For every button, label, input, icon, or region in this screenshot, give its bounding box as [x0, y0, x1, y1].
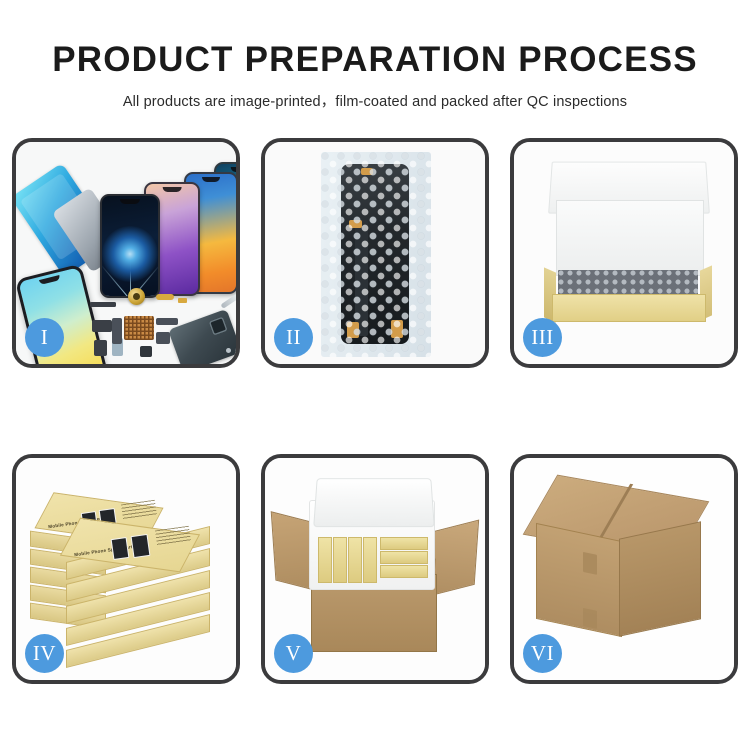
inner-box-6: [380, 551, 428, 564]
step-badge-2: II: [274, 318, 313, 357]
flex-cable-icon: [112, 318, 122, 344]
process-step-panel-1[interactable]: I: [12, 138, 240, 368]
part-bar: [90, 302, 116, 307]
bubble-texture: [321, 152, 431, 357]
inner-box-5: [380, 537, 428, 550]
copper-mesh-icon: [124, 316, 154, 340]
process-step-panel-6[interactable]: VI: [510, 454, 738, 684]
tape-patch-lower: [583, 608, 597, 629]
process-step-panel-2[interactable]: II: [261, 138, 489, 368]
process-step-panel-3[interactable]: III: [510, 138, 738, 368]
box-art-screen-4: [131, 534, 151, 558]
page-subtitle: All products are image-printed，film-coat…: [0, 90, 750, 111]
spare-parts-cluster: [90, 288, 236, 364]
white-foam-sheet: [556, 200, 704, 276]
inner-box-2: [333, 537, 347, 583]
bubble-wrap-bag: [321, 152, 431, 357]
stacked-boxes-group: Mobile Phone Spare Parts Mobile Phone Sp…: [26, 482, 234, 662]
box-front-wall: [552, 294, 706, 322]
process-step-panel-5[interactable]: V: [261, 454, 489, 684]
back-housing-icon: [168, 309, 236, 364]
carton-left-face: [536, 523, 622, 637]
step-badge-3: III: [523, 318, 562, 357]
front-phone-icon: [100, 194, 160, 298]
step-badge-6: VI: [523, 634, 562, 673]
step-badge-4: IV: [25, 634, 64, 673]
foam-lid: [313, 478, 435, 527]
speaker-coil-icon: [128, 288, 145, 305]
gold-contact-2-icon: [178, 298, 187, 303]
header: PRODUCT PREPARATION PROCESS All products…: [0, 0, 750, 111]
process-steps-grid: I II: [12, 138, 738, 684]
box-art-screen-3: [111, 537, 130, 560]
step-badge-1: I: [25, 318, 64, 357]
screw-icon: [226, 348, 231, 353]
part-module: [94, 340, 107, 356]
part-camera: [140, 346, 152, 357]
inner-box-4: [363, 537, 377, 583]
process-step-panel-4[interactable]: Mobile Phone Spare Parts Mobile Phone Sp…: [12, 454, 240, 684]
tape-patch-upper: [583, 552, 597, 575]
part-chip: [92, 320, 112, 332]
flex-cable-2-icon: [156, 318, 178, 325]
inner-box-3: [348, 537, 362, 583]
inner-box-7: [380, 565, 428, 578]
inner-box-1: [318, 537, 332, 583]
wallpaper-burst: [102, 226, 158, 282]
page-title: PRODUCT PREPARATION PROCESS: [0, 42, 750, 79]
carton-right-face: [619, 521, 701, 636]
product-preparation-process-page: PRODUCT PREPARATION PROCESS All products…: [0, 0, 750, 750]
step-badge-5: V: [274, 634, 313, 673]
gold-contact-icon: [156, 294, 174, 300]
connector-icon: [156, 332, 170, 344]
screw-2-icon: [234, 354, 236, 359]
